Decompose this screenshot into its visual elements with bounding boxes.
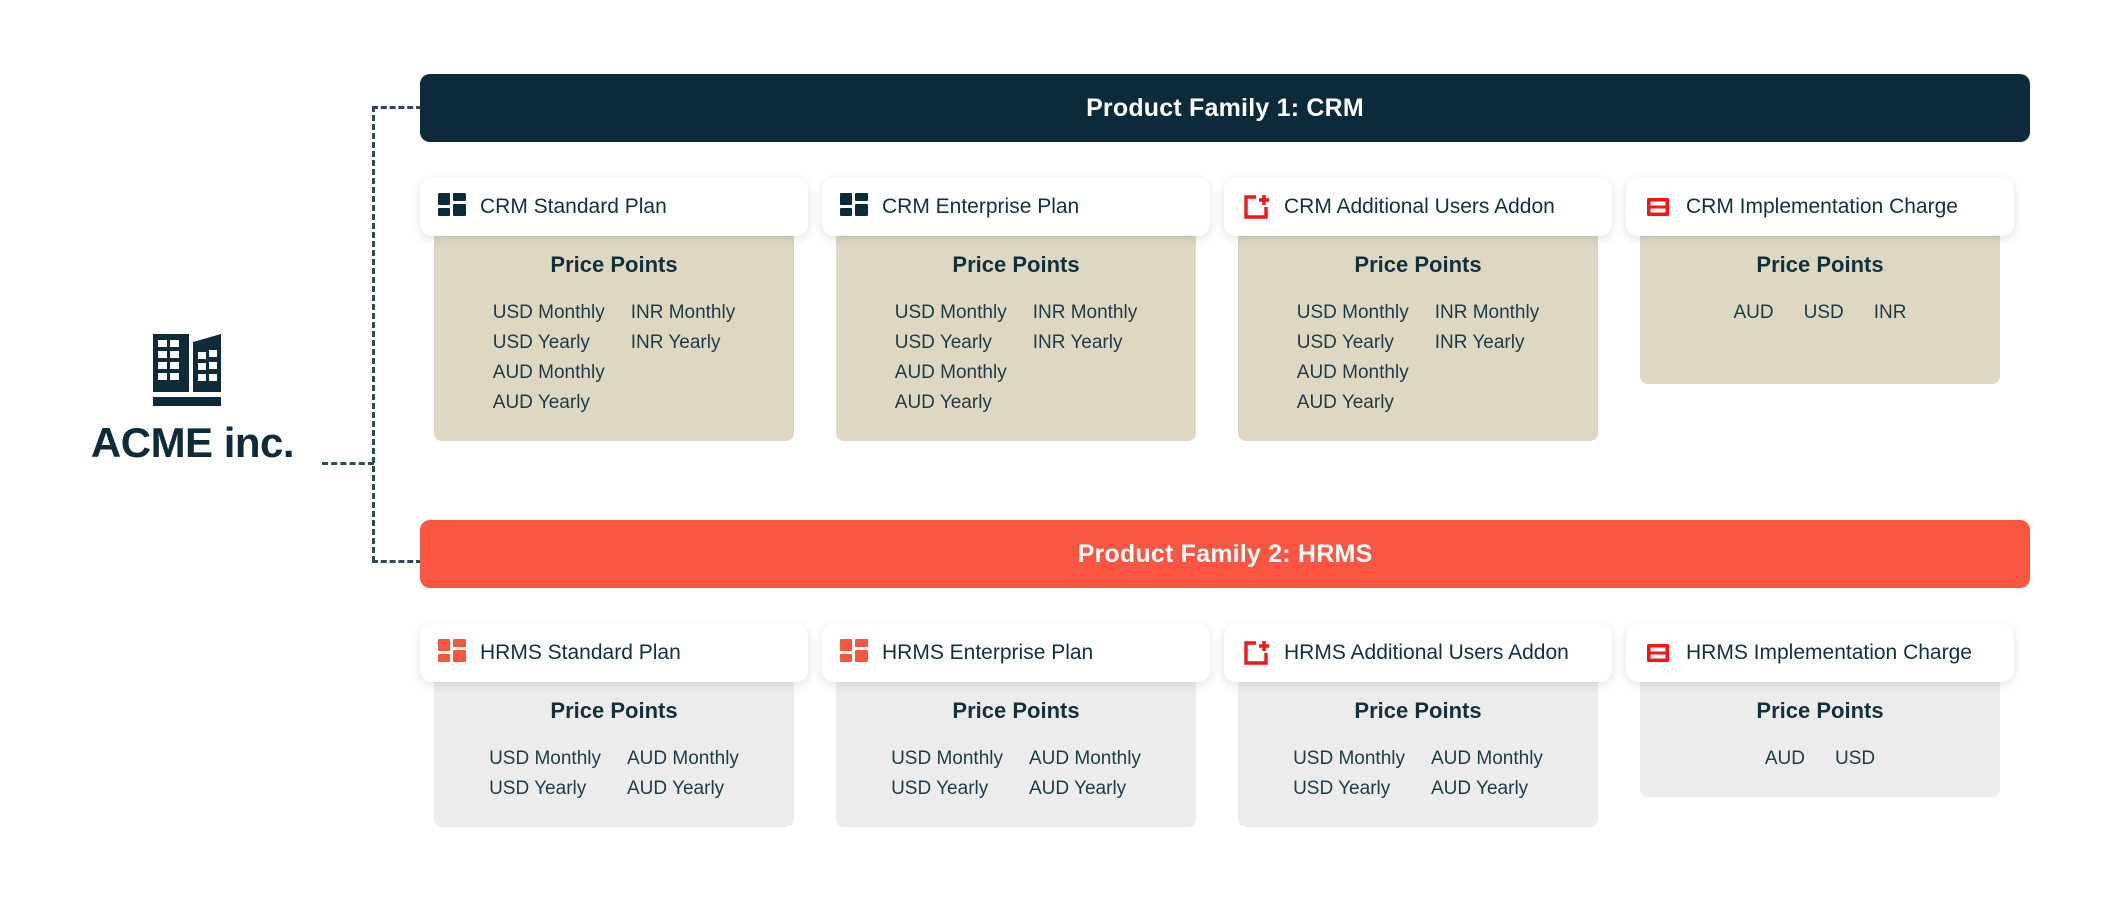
price-points-list: AUD USD bbox=[1640, 746, 2000, 773]
price-point: INR Yearly bbox=[1033, 330, 1138, 357]
price-point: AUD Monthly bbox=[895, 360, 1007, 387]
family-banner-hrms[interactable]: Product Family 2: HRMS bbox=[420, 520, 2030, 588]
price-point: INR bbox=[1874, 300, 1907, 327]
price-point: USD Yearly bbox=[1293, 776, 1405, 803]
price-points-title: Price Points bbox=[836, 252, 1196, 278]
card-body: Price Points USD Monthly USD Yearly AUD … bbox=[836, 232, 1196, 441]
card-row-hrms: HRMS Standard Plan Price Points USD Mont… bbox=[420, 624, 2030, 827]
product-card-hrms-implementation-charge[interactable]: HRMS Implementation Charge Price Points … bbox=[1626, 624, 2028, 827]
add-square-icon bbox=[1242, 639, 1270, 667]
price-point: AUD Yearly bbox=[1297, 390, 1409, 417]
price-points-title: Price Points bbox=[434, 252, 794, 278]
price-point: USD Monthly bbox=[493, 300, 605, 327]
price-points-title: Price Points bbox=[1238, 698, 1598, 724]
price-point: AUD Monthly bbox=[1431, 746, 1543, 773]
connector-to-crm-banner bbox=[372, 106, 422, 109]
price-point: INR Monthly bbox=[1033, 300, 1138, 327]
price-point: AUD Yearly bbox=[1029, 776, 1141, 803]
price-points-list: USD Monthly USD Yearly AUD Monthly AUD Y… bbox=[1238, 746, 1598, 803]
price-point: USD Yearly bbox=[895, 330, 1007, 357]
connector-to-hrms-banner bbox=[372, 560, 422, 563]
grid-blocks-icon bbox=[840, 193, 868, 221]
office-building-icon bbox=[147, 330, 239, 412]
card-title: HRMS Additional Users Addon bbox=[1284, 640, 1569, 666]
family-banner-crm-label: Product Family 1: CRM bbox=[1086, 94, 1364, 123]
price-point: USD Yearly bbox=[493, 330, 605, 357]
card-title: CRM Standard Plan bbox=[480, 194, 667, 220]
price-point: AUD Monthly bbox=[493, 360, 605, 387]
price-point: INR Yearly bbox=[631, 330, 736, 357]
add-square-icon bbox=[1242, 193, 1270, 221]
price-point: AUD bbox=[1765, 746, 1805, 773]
product-card-hrms-standard[interactable]: HRMS Standard Plan Price Points USD Mont… bbox=[420, 624, 822, 827]
price-point: AUD Monthly bbox=[1029, 746, 1141, 773]
grid-blocks-icon bbox=[438, 193, 466, 221]
price-points-title: Price Points bbox=[1640, 252, 2000, 278]
card-row-crm: CRM Standard Plan Price Points USD Month… bbox=[420, 178, 2030, 441]
card-title: HRMS Enterprise Plan bbox=[882, 640, 1093, 666]
price-points-title: Price Points bbox=[1640, 698, 2000, 724]
connector-vertical bbox=[372, 106, 375, 562]
price-point: INR Monthly bbox=[1435, 300, 1540, 327]
price-point: AUD Yearly bbox=[895, 390, 1007, 417]
family-banner-hrms-label: Product Family 2: HRMS bbox=[1078, 540, 1373, 569]
price-points-list: AUD USD INR bbox=[1640, 300, 2000, 327]
price-points-list: USD Monthly USD Yearly AUD Monthly AUD Y… bbox=[434, 746, 794, 803]
product-card-crm-additional-users-addon[interactable]: CRM Additional Users Addon Price Points … bbox=[1224, 178, 1626, 441]
card-body: Price Points AUD USD INR bbox=[1640, 232, 2000, 384]
card-header[interactable]: HRMS Enterprise Plan bbox=[822, 624, 1210, 682]
card-header[interactable]: CRM Standard Plan bbox=[420, 178, 808, 236]
card-title: HRMS Standard Plan bbox=[480, 640, 681, 666]
product-card-hrms-enterprise[interactable]: HRMS Enterprise Plan Price Points USD Mo… bbox=[822, 624, 1224, 827]
card-header[interactable]: HRMS Additional Users Addon bbox=[1224, 624, 1612, 682]
price-point: AUD Yearly bbox=[1431, 776, 1543, 803]
price-points-list: USD Monthly USD Yearly AUD Monthly AUD Y… bbox=[434, 300, 794, 417]
price-point: INR Monthly bbox=[631, 300, 736, 327]
product-card-hrms-additional-users-addon[interactable]: HRMS Additional Users Addon Price Points… bbox=[1224, 624, 1626, 827]
price-point: USD Yearly bbox=[489, 776, 601, 803]
card-title: CRM Implementation Charge bbox=[1686, 194, 1958, 220]
price-points-title: Price Points bbox=[1238, 252, 1598, 278]
price-points-list: USD Monthly USD Yearly AUD Monthly AUD Y… bbox=[1238, 300, 1598, 417]
price-point: INR Yearly bbox=[1435, 330, 1540, 357]
card-header[interactable]: CRM Additional Users Addon bbox=[1224, 178, 1612, 236]
price-points-list: USD Monthly USD Yearly AUD Monthly AUD Y… bbox=[836, 300, 1196, 417]
brand-block: ACME inc. bbox=[60, 330, 325, 464]
price-point: USD bbox=[1804, 300, 1844, 327]
price-point: USD Monthly bbox=[891, 746, 1003, 773]
family-banner-crm[interactable]: Product Family 1: CRM bbox=[420, 74, 2030, 142]
card-header[interactable]: CRM Implementation Charge bbox=[1626, 178, 2014, 236]
invoice-card-icon bbox=[1644, 193, 1672, 221]
card-header[interactable]: CRM Enterprise Plan bbox=[822, 178, 1210, 236]
price-point: USD Monthly bbox=[895, 300, 1007, 327]
price-point: AUD Monthly bbox=[627, 746, 739, 773]
card-title: HRMS Implementation Charge bbox=[1686, 640, 1972, 666]
grid-blocks-icon bbox=[840, 639, 868, 667]
price-point: AUD Yearly bbox=[627, 776, 739, 803]
price-point: USD Yearly bbox=[1297, 330, 1409, 357]
price-point: AUD Monthly bbox=[1297, 360, 1409, 387]
product-card-crm-implementation-charge[interactable]: CRM Implementation Charge Price Points A… bbox=[1626, 178, 2028, 441]
brand-name: ACME inc. bbox=[91, 422, 294, 464]
card-body: Price Points USD Monthly USD Yearly AUD … bbox=[836, 678, 1196, 827]
price-point: AUD Yearly bbox=[493, 390, 605, 417]
card-header[interactable]: HRMS Standard Plan bbox=[420, 624, 808, 682]
price-point: USD Monthly bbox=[1297, 300, 1409, 327]
connector-to-brand bbox=[322, 462, 374, 465]
card-body: Price Points USD Monthly USD Yearly AUD … bbox=[1238, 232, 1598, 441]
card-body: Price Points AUD USD bbox=[1640, 678, 2000, 797]
card-title: CRM Enterprise Plan bbox=[882, 194, 1079, 220]
product-card-crm-standard[interactable]: CRM Standard Plan Price Points USD Month… bbox=[420, 178, 822, 441]
grid-blocks-icon bbox=[438, 639, 466, 667]
price-points-list: USD Monthly USD Yearly AUD Monthly AUD Y… bbox=[836, 746, 1196, 803]
price-point: USD bbox=[1835, 746, 1875, 773]
price-point: AUD bbox=[1734, 300, 1774, 327]
card-body: Price Points USD Monthly USD Yearly AUD … bbox=[434, 232, 794, 441]
card-header[interactable]: HRMS Implementation Charge bbox=[1626, 624, 2014, 682]
card-body: Price Points USD Monthly USD Yearly AUD … bbox=[434, 678, 794, 827]
invoice-card-icon bbox=[1644, 639, 1672, 667]
card-body: Price Points USD Monthly USD Yearly AUD … bbox=[1238, 678, 1598, 827]
diagram-canvas: ACME inc. Product Family 1: CRM CRM Stan… bbox=[0, 0, 2120, 924]
price-points-title: Price Points bbox=[434, 698, 794, 724]
price-point: USD Yearly bbox=[891, 776, 1003, 803]
card-title: CRM Additional Users Addon bbox=[1284, 194, 1555, 220]
price-point: USD Monthly bbox=[489, 746, 601, 773]
product-card-crm-enterprise[interactable]: CRM Enterprise Plan Price Points USD Mon… bbox=[822, 178, 1224, 441]
price-point: USD Monthly bbox=[1293, 746, 1405, 773]
price-points-title: Price Points bbox=[836, 698, 1196, 724]
